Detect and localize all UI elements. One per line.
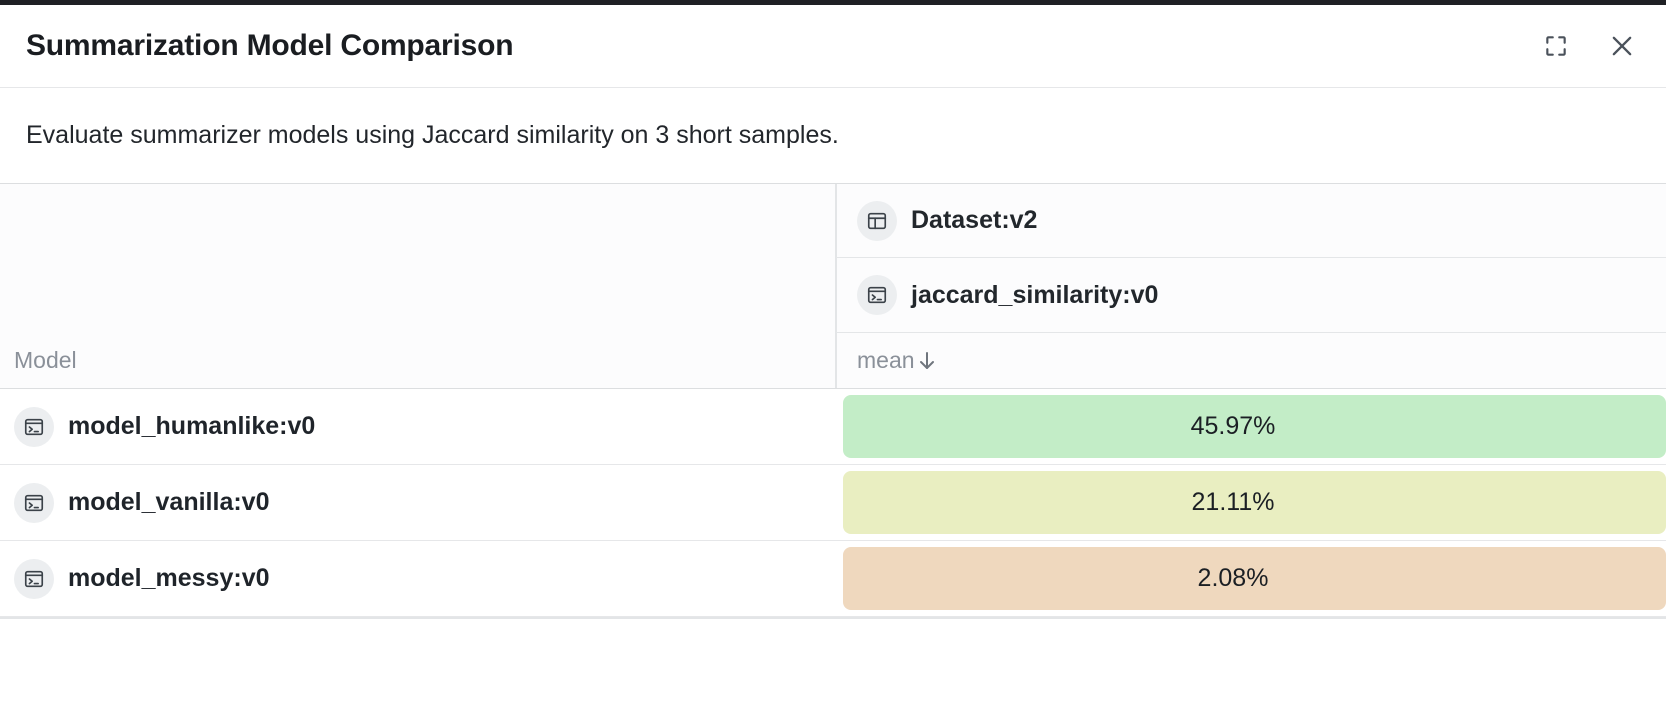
score-label: 45.97% <box>843 412 1623 441</box>
comparison-table: Dataset:v2 jaccard_similarity:v0 <box>0 184 1666 619</box>
page-title: Summarization Model Comparison <box>26 29 1536 63</box>
description-bar: Evaluate summarizer models using Jaccard… <box>0 88 1666 184</box>
sort-descending-arrow[interactable] <box>915 349 939 373</box>
model-label: model_humanlike:v0 <box>68 412 315 441</box>
score-cell[interactable]: 21.11% <box>843 465 1666 540</box>
table-row[interactable]: model_humanlike:v0 45.97% <box>0 389 1666 465</box>
model-terminal-icon <box>14 407 54 447</box>
score-bar: 21.11% <box>843 471 1666 534</box>
table-row[interactable]: model_vanilla:v0 21.11% <box>0 465 1666 541</box>
metric-terminal-icon <box>857 275 897 315</box>
model-cell[interactable]: model_messy:v0 <box>0 541 790 616</box>
table-row[interactable]: model_messy:v0 2.08% <box>0 541 1666 617</box>
page-description: Evaluate summarizer models using Jaccard… <box>26 121 839 150</box>
model-terminal-icon <box>14 559 54 599</box>
score-label: 21.11% <box>843 488 1623 517</box>
column-header-row: Model mean <box>0 333 1666 388</box>
model-label: model_vanilla:v0 <box>68 488 269 517</box>
score-label: 2.08% <box>843 564 1623 593</box>
metric-name: jaccard_similarity:v0 <box>911 281 1158 310</box>
dataset-header-spacer <box>0 184 790 258</box>
score-bar: 45.97% <box>843 395 1666 458</box>
model-label: model_messy:v0 <box>68 564 270 593</box>
dataset-chip[interactable]: Dataset:v2 <box>857 201 1037 241</box>
metric-header-row: jaccard_similarity:v0 <box>0 258 1666 333</box>
table-bottom-border <box>0 617 1666 619</box>
model-column-label: Model <box>14 347 77 374</box>
mean-column-label: mean <box>857 347 915 374</box>
close-icon[interactable] <box>1602 26 1642 66</box>
dataset-header-cell[interactable]: Dataset:v2 <box>835 184 1666 258</box>
model-cell[interactable]: model_humanlike:v0 <box>0 389 790 464</box>
dataset-name: Dataset:v2 <box>911 206 1037 235</box>
mean-column-header[interactable]: mean <box>835 333 1666 388</box>
dataset-header-row: Dataset:v2 <box>0 184 1666 258</box>
metric-header-cell[interactable]: jaccard_similarity:v0 <box>835 258 1666 333</box>
table-header: Dataset:v2 jaccard_similarity:v0 <box>0 184 1666 388</box>
score-cell[interactable]: 2.08% <box>843 541 1666 616</box>
titlebar: Summarization Model Comparison <box>0 5 1666 88</box>
score-cell[interactable]: 45.97% <box>843 389 1666 464</box>
titlebar-actions <box>1536 26 1642 66</box>
dataset-table-icon <box>857 201 897 241</box>
model-terminal-icon <box>14 483 54 523</box>
metric-chip[interactable]: jaccard_similarity:v0 <box>857 275 1158 315</box>
expand-icon[interactable] <box>1536 26 1576 66</box>
model-column-header[interactable]: Model <box>0 333 790 388</box>
metric-header-spacer <box>0 258 790 333</box>
model-cell[interactable]: model_vanilla:v0 <box>0 465 790 540</box>
score-bar: 2.08% <box>843 547 1666 610</box>
